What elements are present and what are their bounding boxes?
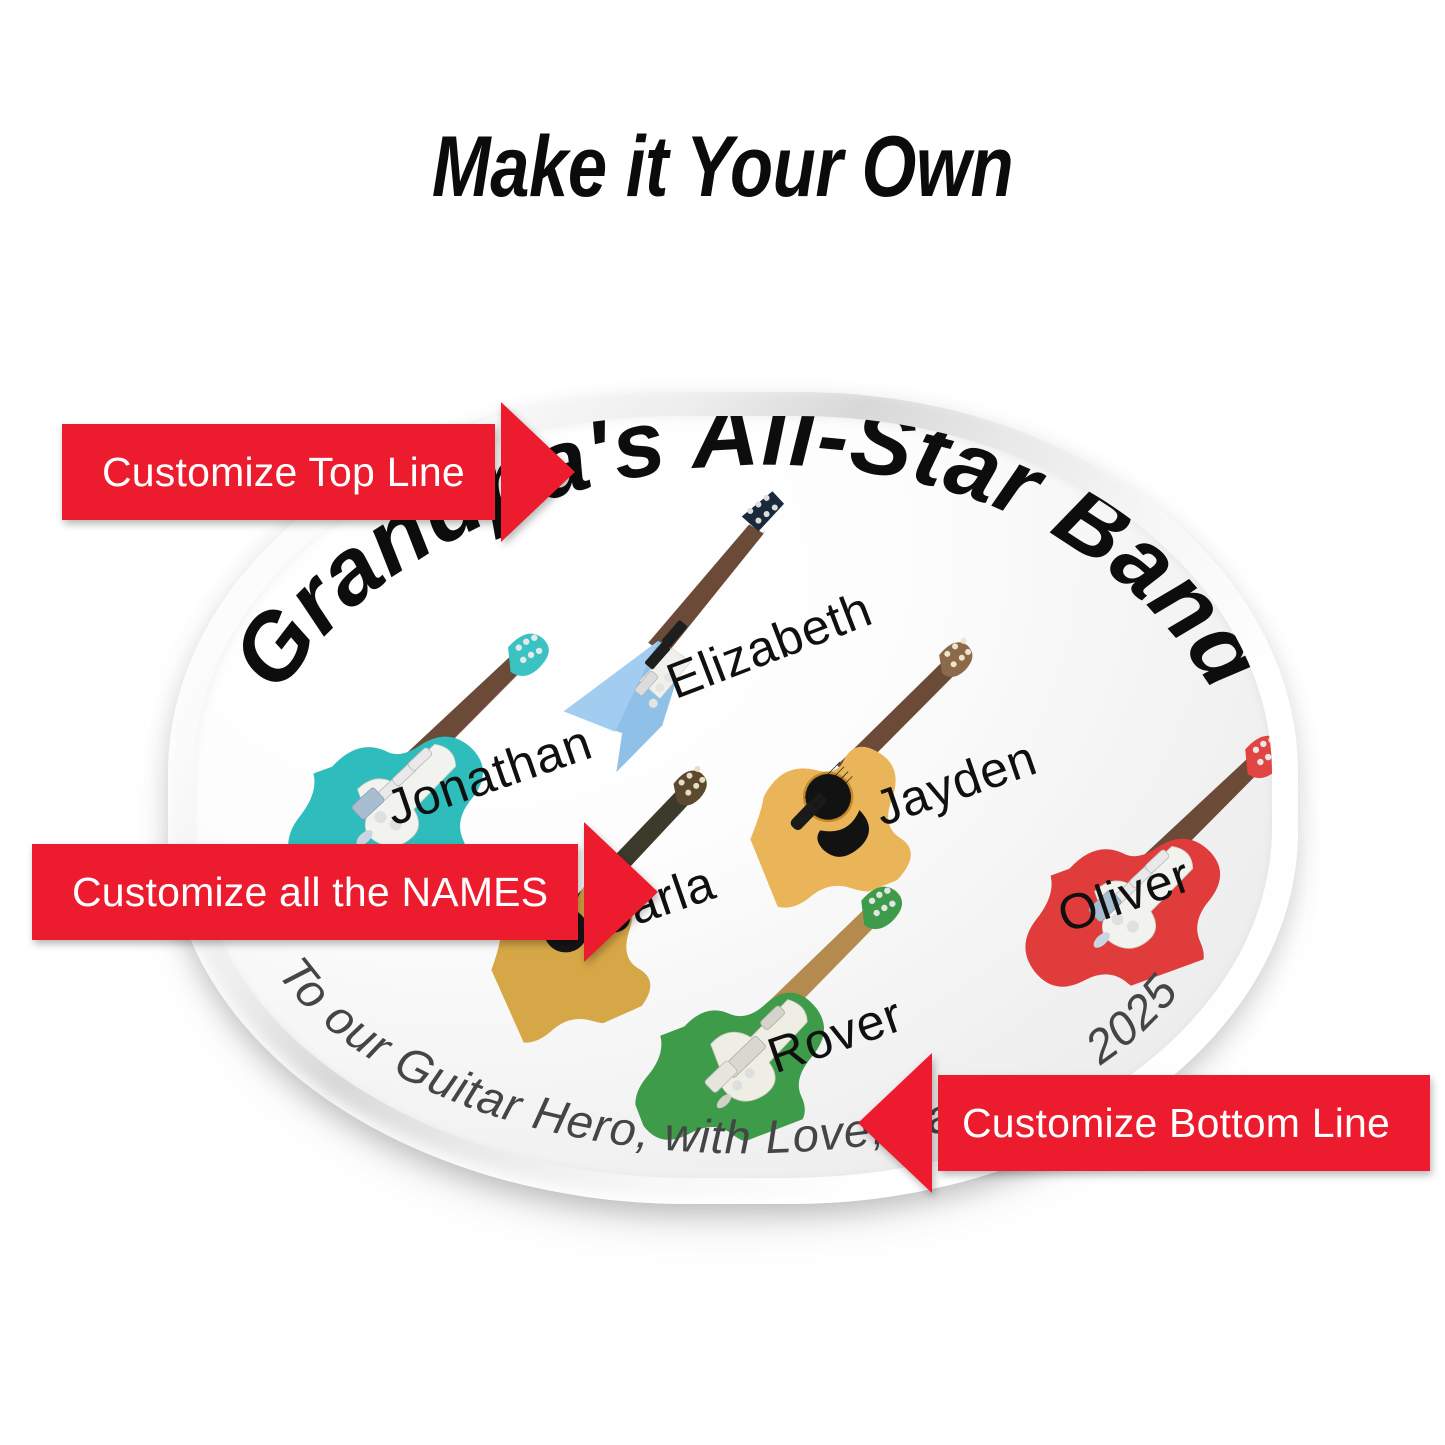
platter-face: Grandpa's All-Star Band [194, 416, 1272, 1178]
poster-canvas: Make it Your Own Grandpa's All-Star Band [0, 0, 1445, 1445]
callout-bottom-line-label: Customize Bottom Line [962, 1100, 1390, 1147]
callout-bottom-line-bar[interactable]: Customize Bottom Line [938, 1075, 1430, 1171]
svg-text:To our Guitar Hero, with Love,: To our Guitar Hero, with Love, Fa [268, 947, 959, 1164]
callout-arrow-right-icon [584, 822, 658, 962]
callout-top-line[interactable]: Customize Top Line [62, 424, 575, 520]
callout-arrow-right-icon [501, 402, 575, 542]
callout-names[interactable]: Customize all the NAMES [32, 844, 658, 940]
svg-text:2025: 2025 [1074, 964, 1188, 1074]
platter-bottom-line-arc: To our Guitar Hero, with Love, Fa 2025 [194, 416, 1272, 1178]
callout-top-line-bar[interactable]: Customize Top Line [62, 424, 495, 520]
callout-names-label: Customize all the NAMES [72, 869, 548, 916]
callout-top-line-label: Customize Top Line [102, 449, 465, 496]
platter-bottom-line-year: 2025 [1074, 964, 1188, 1074]
platter-bottom-line-text: To our Guitar Hero, with Love, Fa [268, 947, 959, 1164]
page-title: Make it Your Own [130, 118, 1315, 217]
callout-bottom-line[interactable]: Customize Bottom Line [858, 1075, 1430, 1171]
callout-arrow-left-icon [858, 1053, 932, 1193]
callout-names-bar[interactable]: Customize all the NAMES [32, 844, 578, 940]
